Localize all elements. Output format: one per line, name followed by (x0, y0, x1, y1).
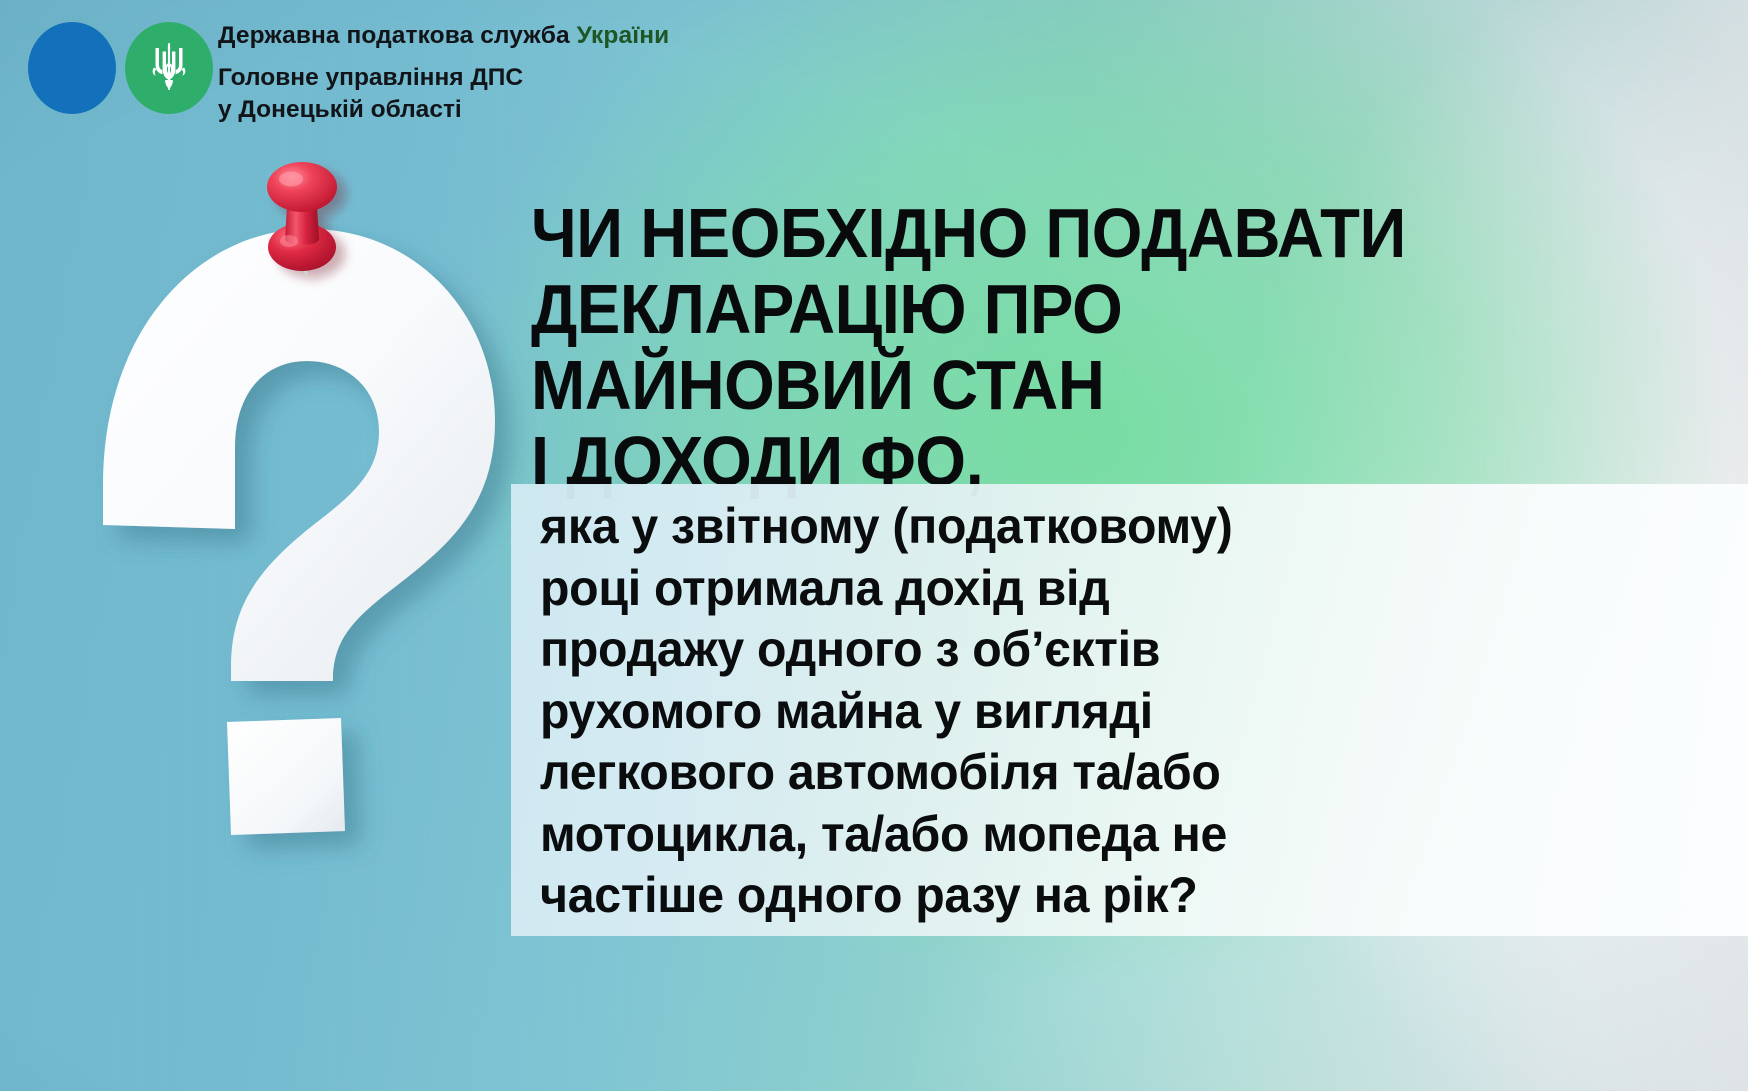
question-mark-dot (227, 718, 345, 835)
headline-line-1: ЧИ НЕОБХІДНО ПОДАВАТИ (531, 196, 1628, 272)
org-header: Державна податкова служба України Головн… (28, 18, 669, 127)
body-line-2: році отримала дохід від (540, 558, 1698, 620)
body-line-4: рухомого майна у вигляді (540, 681, 1698, 743)
poster-canvas: Державна податкова служба України Головн… (0, 0, 1748, 1091)
org-subtitle-line-2: у Донецькій області (218, 94, 669, 126)
headline-line-3: МАЙНОВИЙ СТАН (531, 348, 1628, 424)
body-text-panel: яка у звітному (податковому) році отрима… (511, 484, 1748, 936)
body-line-1: яка у звітному (податковому) (540, 496, 1698, 558)
body-text: яка у звітному (податковому) році отрима… (540, 496, 1698, 927)
org-title-main: Державна податкова служба (218, 22, 577, 49)
body-line-3: продажу одного з об’єктів (540, 619, 1698, 681)
logo-blue-circle-icon (28, 22, 116, 114)
ukraine-trident-icon (147, 39, 191, 97)
page-title: ЧИ НЕОБХІДНО ПОДАВАТИ ДЕКЛАРАЦІЮ ПРО МАЙ… (531, 196, 1628, 500)
org-title-line-1: Державна податкова служба України (218, 22, 669, 51)
agency-logo (28, 18, 218, 116)
question-mark-svg (95, 155, 525, 745)
body-line-7: частіше одного разу на рік? (540, 865, 1698, 927)
pushpin-icon (267, 162, 337, 273)
question-mark-paper-shape (103, 229, 495, 681)
org-name-block: Державна податкова служба України Головн… (218, 18, 669, 127)
logo-green-circle-icon (125, 22, 213, 114)
headline-line-2: ДЕКЛАРАЦІЮ ПРО (531, 272, 1628, 348)
org-title-tail: України (577, 22, 670, 49)
org-subtitle-line-1: Головне управління ДПС (218, 62, 669, 94)
org-subtitle: Головне управління ДПС у Донецькій облас… (218, 62, 669, 127)
body-line-5: легкового автомобіля та/або (540, 742, 1698, 804)
question-mark-illustration (95, 155, 525, 745)
body-line-6: мотоцикла, та/або мопеда не (540, 804, 1698, 866)
